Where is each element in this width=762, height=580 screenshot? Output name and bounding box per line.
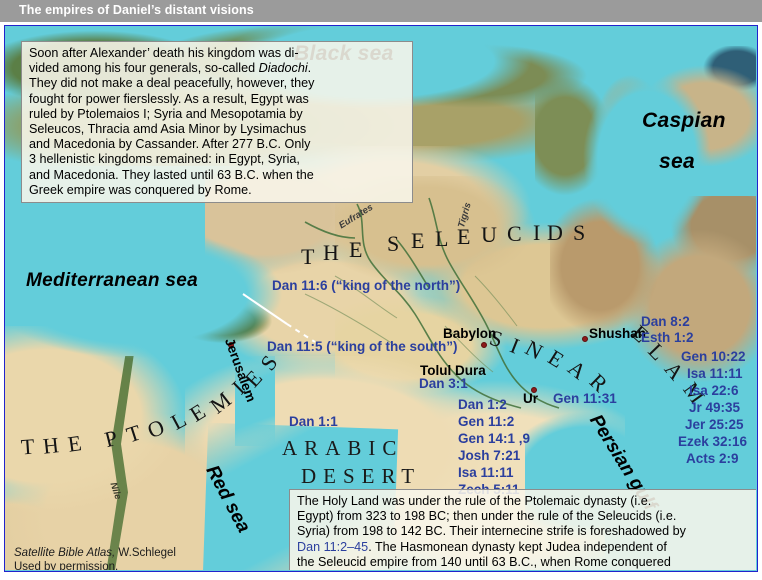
panel-bottom-line-1: Egypt) from 323 to 198 BC; then under th… <box>297 509 750 524</box>
reference-elam-5: Ezek 32:16 <box>678 434 747 449</box>
city-dot-babylon <box>481 342 487 348</box>
panel-bottom-line-0: The Holy Land was under the rule of the … <box>297 494 750 509</box>
region-label-desert: DESERT <box>301 464 421 489</box>
sea-label-mediterranean: Mediterranean sea <box>26 270 198 292</box>
city-label-shushan: Shushan <box>589 326 646 341</box>
credit-atlas-title: Satellite Bible Atlas, <box>14 547 115 559</box>
map-credit: Satellite Bible Atlas, W.Schlegel Used b… <box>14 547 176 570</box>
caspian-sea-water <box>575 66 725 256</box>
reference-dan-1-1: Dan 1:1 <box>289 414 338 429</box>
reference-king-of-the-south: Dan 11:5 (“king of the south”) <box>267 339 458 354</box>
panel-top-line-7: 3 hellenistic kingdoms remained: in Egyp… <box>29 152 406 167</box>
reference-center-1: Gen 11:2 <box>458 414 514 429</box>
panel-top-line-2: They did not make a deal peacefully, how… <box>29 76 406 91</box>
title-bar: The empires of Daniel’s distant visions <box>0 0 762 22</box>
panel-top-line-1: vided among his four generals, so-called… <box>29 61 406 76</box>
region-label-arabic: ARABIC <box>282 436 403 461</box>
reference-center-0: Dan 1:2 <box>458 397 507 412</box>
credit-line-1: Satellite Bible Atlas, W.Schlegel <box>14 547 176 561</box>
mediterranean-water <box>5 234 285 364</box>
panel-bottom-line-2: Syria) from 198 to 142 BC. Their interne… <box>297 524 750 539</box>
panel-bottom-line-3: Dan 11:2–45. The Hasmonean dynasty kept … <box>297 540 750 555</box>
reference-elam-2: Isa 22:6 <box>689 383 739 398</box>
inline-reference-dan-11-2-45: Dan 11:2–45 <box>297 540 368 554</box>
reference-elam-3: Jr 49:35 <box>689 400 740 415</box>
reference-elam-0: Gen 10:22 <box>681 349 746 364</box>
reference-center-3: Josh 7:21 <box>458 448 520 463</box>
reference-ur-gen-11-31: Gen 11:31 <box>553 391 617 406</box>
sea-label-caspian: Caspian <box>642 109 726 133</box>
info-panel-diadochi: Soon after Alexander’ death his kingdom … <box>21 41 413 203</box>
reference-king-of-the-north: Dan 11:6 (“king of the north”) <box>272 278 460 293</box>
panel-top-line-4: ruled by Ptolemaios I; Syria and Mesopot… <box>29 107 406 122</box>
reference-center-2: Gen 14:1 ,9 <box>458 431 530 446</box>
reference-shushan-dan-8-2: Dan 8:2 <box>641 314 690 329</box>
reference-elam-6: Acts 2:9 <box>686 451 739 466</box>
reference-shushan-esth-1-2: Esth 1:2 <box>641 330 694 345</box>
panel-top-line-9: Greek empire was conquered by Rome. <box>29 183 406 198</box>
reference-elam-4: Jer 25:25 <box>685 417 744 432</box>
panel-top-line-0: Soon after Alexander’ death his kingdom … <box>29 46 406 61</box>
info-panel-holy-land: The Holy Land was under the rule of the … <box>289 489 756 570</box>
city-dot-shushan <box>582 336 588 342</box>
reference-center-4: Isa 11:11 <box>458 465 514 480</box>
credit-author: W.Schlegel <box>115 547 176 559</box>
city-label-ur: Ur <box>523 391 538 406</box>
reference-elam-1: Isa 11:11 <box>687 366 743 381</box>
page-title: The empires of Daniel’s distant visions <box>19 3 254 17</box>
panel-top-line-5: Seleucos, Thracia amd Asia Minor by Lysi… <box>29 122 406 137</box>
sea-label-caspian-second-line: sea <box>659 150 695 174</box>
map-canvas: Black sea Caspian sea Mediterranean sea … <box>5 26 756 570</box>
reference-tolul-dura: Dan 3:1 <box>419 376 468 391</box>
map-screenshot: The empires of Daniel’s distant visions <box>0 0 762 580</box>
panel-top-line-6: and Macedonia by Cassander. After 277 B.… <box>29 137 406 152</box>
panel-top-line-8: and Macedonia. They lasted until 63 B.C.… <box>29 168 406 183</box>
map-frame: Black sea Caspian sea Mediterranean sea … <box>4 25 758 572</box>
credit-line-2: Used by permission. <box>14 561 176 571</box>
panel-top-line-3: fought for power fierslessly. As a resul… <box>29 92 406 107</box>
panel-bottom-line-4: the Seleucid empire from 140 until 63 B.… <box>297 555 750 570</box>
